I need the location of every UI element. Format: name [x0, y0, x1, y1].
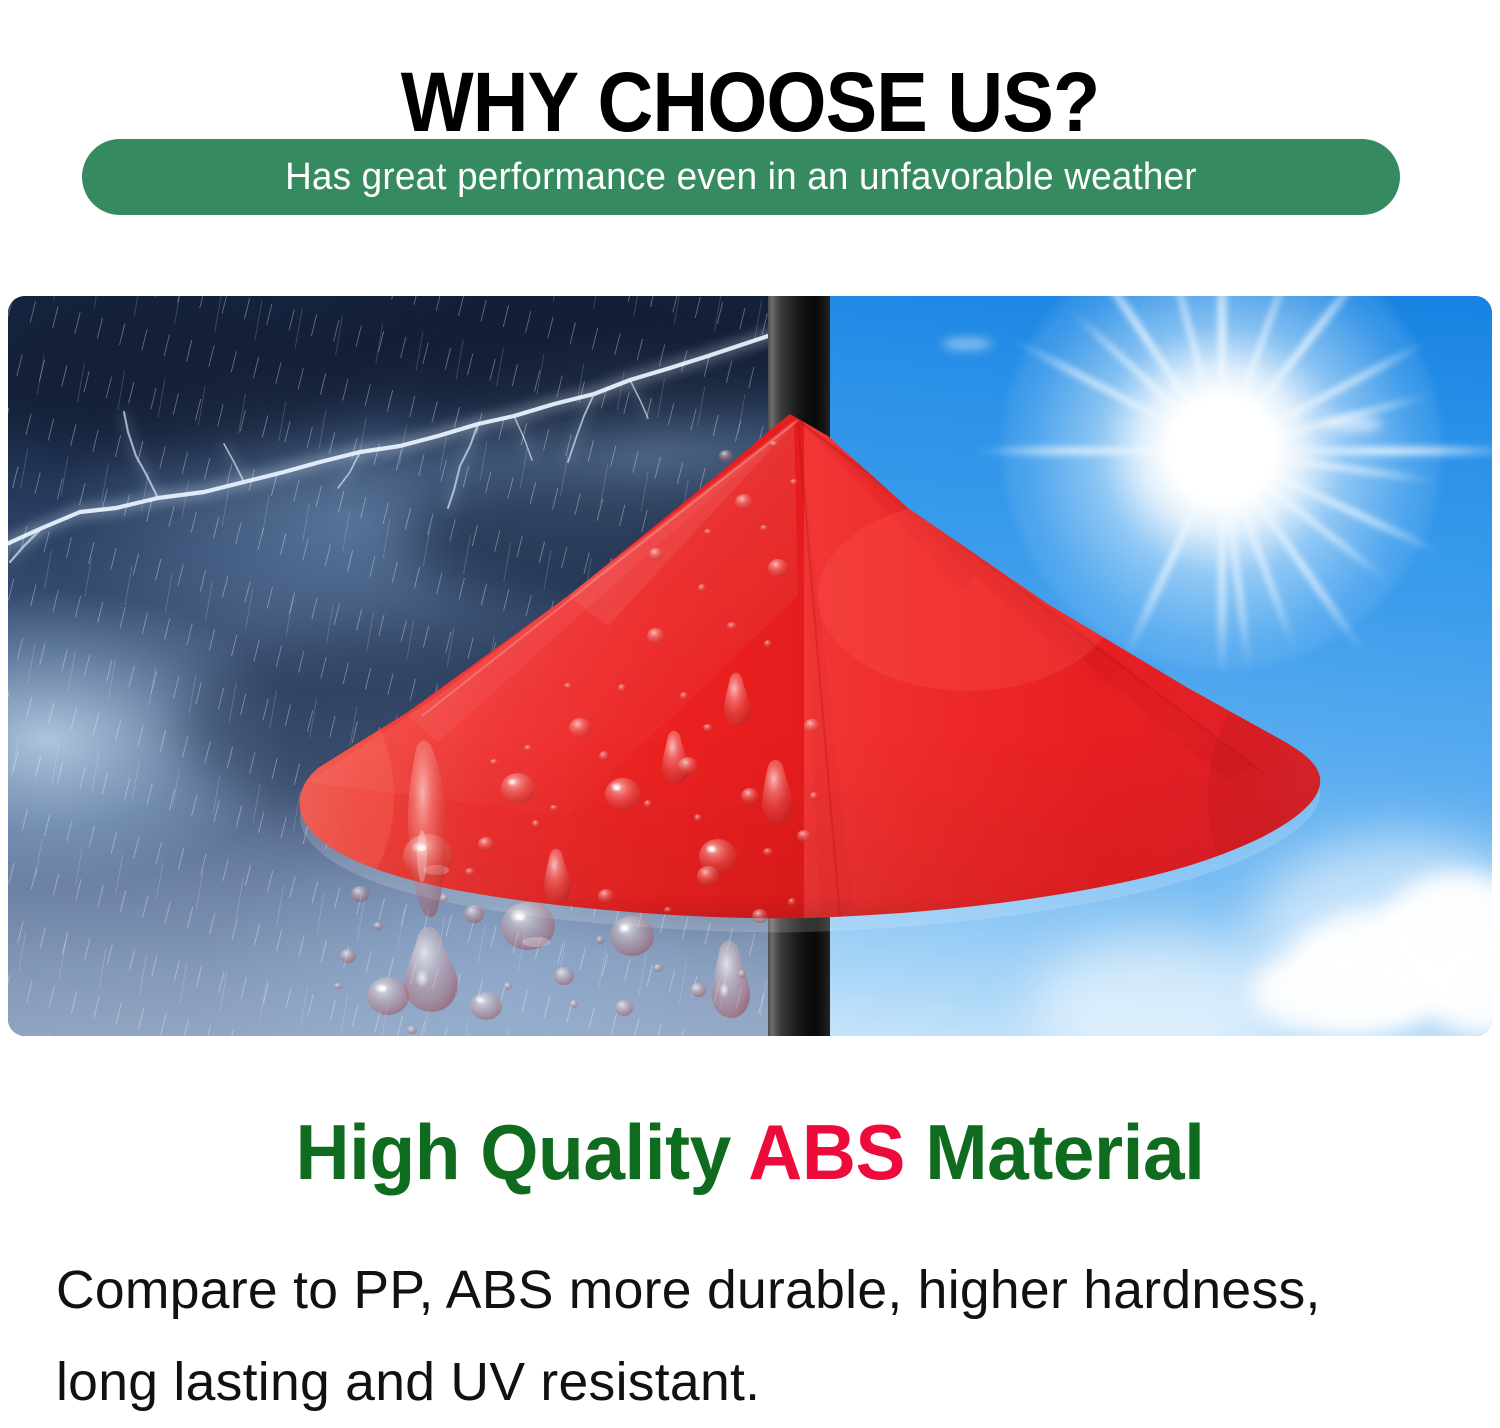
page-title: WHY CHOOSE US? — [60, 58, 1440, 146]
subtitle-banner-label: Has great performance even in an unfavor… — [285, 155, 1197, 199]
material-headline-part2: Material — [905, 1108, 1204, 1196]
material-description: Compare to PP, ABS more durable, higher … — [56, 1244, 1442, 1428]
material-headline: High Quality ABS Material — [30, 1106, 1470, 1198]
material-description-line-1: Compare to PP, ABS more durable, higher … — [56, 1244, 1442, 1336]
hero-product-photo — [8, 296, 1492, 1036]
material-headline-part1: High Quality — [296, 1108, 749, 1196]
red-cone-shape — [8, 296, 1492, 1036]
cone-product — [8, 296, 1492, 1036]
material-description-line-2: long lasting and UV resistant. — [56, 1336, 1442, 1428]
subtitle-banner: Has great performance even in an unfavor… — [82, 139, 1400, 215]
material-headline-highlight: ABS — [748, 1108, 905, 1196]
